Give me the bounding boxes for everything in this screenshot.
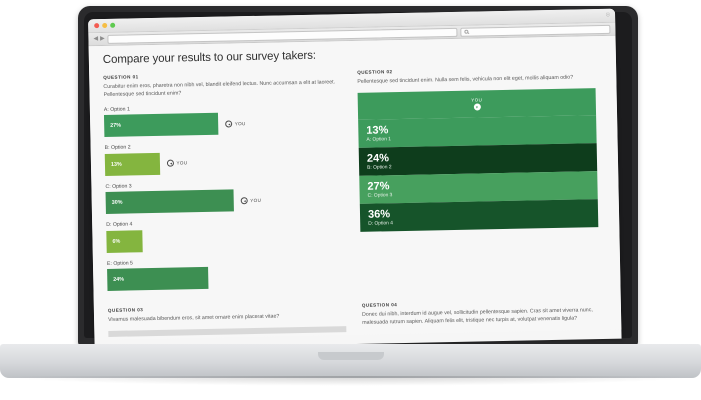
back-icon[interactable]: ◀ xyxy=(93,36,98,42)
search-input[interactable] xyxy=(460,24,610,36)
question-03-text: Vivamus malesuada bibendum eros, sit ame… xyxy=(108,311,346,324)
laptop-base-notch xyxy=(318,352,384,360)
question-02-text: Pellentesque sed tincidunt enim. Nulla s… xyxy=(357,73,595,86)
bar-fill[interactable]: 13% xyxy=(105,153,160,176)
bar-item: B: Option 2 13% YOU xyxy=(105,140,344,175)
bottom-questions: QUESTION 03 Vivamus malesuada bibendum e… xyxy=(108,298,608,340)
bar-value: 13% xyxy=(111,161,122,167)
table-row: 30% YOU xyxy=(106,187,344,214)
browser-window: ⌾ ◀ ▶ Compare your results to our survey… xyxy=(88,9,622,350)
bar-item: D: Option 4 6% xyxy=(106,217,345,252)
stacked-chart-question-02: YOU 13% A: Option 1 24% B: Option 2 xyxy=(358,88,599,232)
you-marker: YOU xyxy=(241,197,262,204)
bar-fill[interactable]: 6% xyxy=(106,230,142,253)
bar-fill[interactable]: 27% xyxy=(104,113,218,137)
question-02-block: QUESTION 02 Pellentesque sed tincidunt e… xyxy=(357,65,599,294)
arrow-left-icon xyxy=(241,197,248,204)
stack-segment[interactable]: 36% D: Option 4 xyxy=(360,199,599,232)
bar-value: 6% xyxy=(112,238,120,244)
arrow-left-icon xyxy=(167,160,174,167)
chart-placeholder-bar xyxy=(108,326,346,337)
you-label: YOU xyxy=(250,198,261,203)
table-row: 27% YOU xyxy=(104,110,342,137)
you-label: YOU xyxy=(235,121,246,126)
bar-chart-question-01: A: Option 1 27% YOU xyxy=(104,102,346,291)
arrow-left-icon xyxy=(225,120,232,127)
question-columns: QUESTION 01 Curabitur enim eros, pharetr… xyxy=(103,65,606,299)
bar-fill[interactable]: 30% xyxy=(106,190,234,215)
chevron-down-icon xyxy=(473,104,480,111)
laptop-base xyxy=(0,344,701,378)
question-03-block: QUESTION 03 Vivamus malesuada bibendum e… xyxy=(108,303,347,339)
resize-icon[interactable]: ⌾ xyxy=(606,12,610,19)
minimize-icon[interactable] xyxy=(102,23,107,28)
nav-arrows[interactable]: ◀ ▶ xyxy=(93,36,104,42)
forward-icon[interactable]: ▶ xyxy=(100,36,105,42)
question-04-block: QUESTION 04 Donec dui nibh, interdum id … xyxy=(362,298,601,334)
bar-item: A: Option 1 27% YOU xyxy=(104,102,343,137)
you-marker: YOU xyxy=(225,120,246,127)
laptop-shadow xyxy=(0,376,701,386)
you-label: YOU xyxy=(176,160,187,165)
bar-fill[interactable]: 24% xyxy=(107,267,208,291)
page-content: Compare your results to our survey taker… xyxy=(89,36,622,341)
bar-value: 30% xyxy=(112,200,123,206)
you-label: YOU xyxy=(471,97,482,102)
question-01-block: QUESTION 01 Curabitur enim eros, pharetr… xyxy=(103,70,345,299)
question-04-text: Donec dui nibh, interdum id augue vel, s… xyxy=(362,306,600,328)
table-row: 13% YOU xyxy=(105,149,343,176)
search-icon xyxy=(464,30,468,34)
bar-item: E: Option 5 24% xyxy=(107,256,346,291)
table-row: 24% xyxy=(107,264,345,291)
you-marker: YOU xyxy=(167,159,188,166)
close-icon[interactable] xyxy=(94,23,99,28)
bar-value: 27% xyxy=(110,123,121,129)
window-controls[interactable] xyxy=(94,23,115,28)
screenshot-stage: ⌾ ◀ ▶ Compare your results to our survey… xyxy=(0,0,701,400)
bar-item: C: Option 3 30% YOU xyxy=(105,179,344,214)
table-row: 6% xyxy=(106,226,344,253)
question-01-text: Curabitur enim eros, pharetra non nibh v… xyxy=(103,78,341,100)
maximize-icon[interactable] xyxy=(110,23,115,28)
page-title: Compare your results to our survey taker… xyxy=(103,44,602,66)
bar-value: 24% xyxy=(113,277,124,283)
